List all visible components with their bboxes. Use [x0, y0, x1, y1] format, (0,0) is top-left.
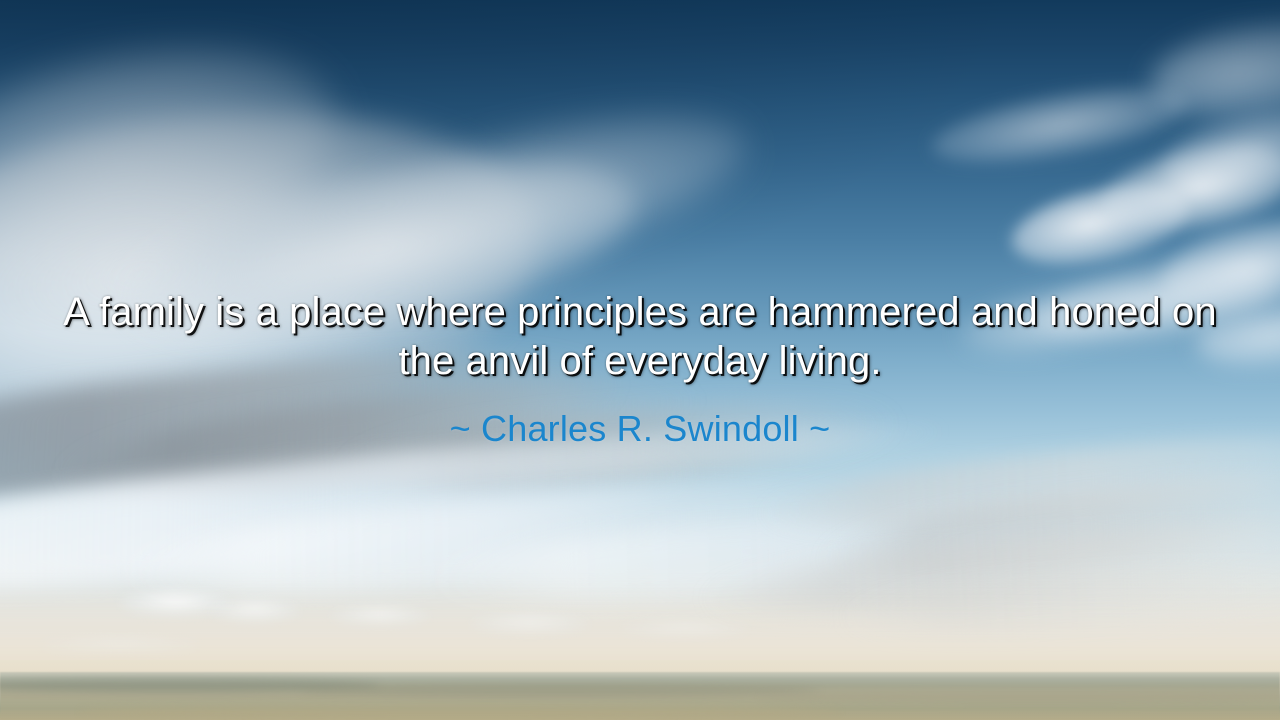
quote-attribution: ~ Charles R. Swindoll ~ — [40, 407, 1240, 451]
quote-image-canvas: A family is a place where principles are… — [0, 0, 1280, 720]
ground-streak-tan-bottom — [80, 704, 840, 720]
quote-text: A family is a place where principles are… — [50, 288, 1230, 386]
ground-streak-mid — [300, 684, 820, 696]
quote-overlay: A family is a place where principles are… — [0, 288, 1280, 451]
